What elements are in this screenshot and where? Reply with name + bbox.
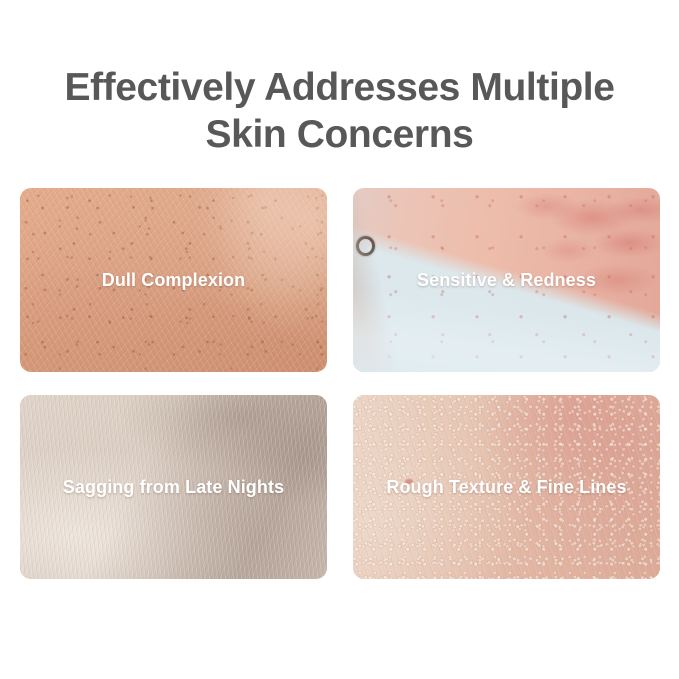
concern-card-label: Sagging from Late Nights [20,476,327,498]
concern-card-label: Dull Complexion [20,269,327,291]
concern-card-sagging-late-nights[interactable]: Sagging from Late Nights [20,395,327,579]
page-title: Effectively Addresses Multiple Skin Conc… [0,64,679,158]
concern-card-dull-complexion[interactable]: Dull Complexion [20,188,327,372]
concern-card-rough-texture-fine-lines[interactable]: Rough Texture & Fine Lines [353,395,660,579]
concern-card-label: Sensitive & Redness [353,269,660,291]
promo-graphic: Effectively Addresses Multiple Skin Conc… [0,0,679,679]
concern-card-grid: Dull Complexion Sensitive & Redness Sagg… [20,188,660,579]
concern-card-label: Rough Texture & Fine Lines [353,476,660,498]
concern-card-sensitive-redness[interactable]: Sensitive & Redness [353,188,660,372]
